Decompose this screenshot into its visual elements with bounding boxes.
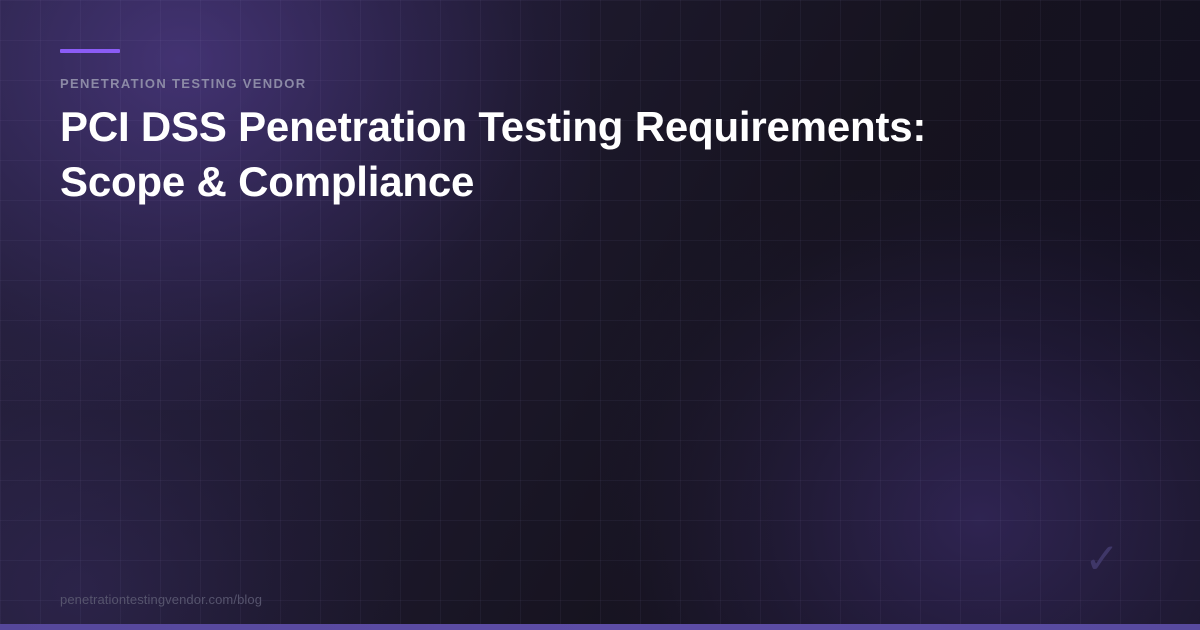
page-title-line-1: PCI DSS Penetration Testing Requirements… bbox=[60, 99, 1070, 154]
footer-url: penetrationtestingvendor.com/blog bbox=[60, 593, 262, 606]
check-icon: ✓ bbox=[1080, 536, 1124, 582]
glow-bottom-left bbox=[0, 300, 400, 630]
og-share-card: PENETRATION TESTING VENDOR PCI DSS Penet… bbox=[0, 0, 1200, 630]
bottom-accent-bar bbox=[0, 624, 1200, 630]
brand-eyebrow: PENETRATION TESTING VENDOR bbox=[60, 77, 306, 90]
grid-pattern-overlay bbox=[0, 0, 1200, 630]
accent-bar bbox=[60, 49, 120, 53]
page-title-line-2: Scope & Compliance bbox=[60, 154, 1070, 209]
page-title: PCI DSS Penetration Testing Requirements… bbox=[60, 99, 1070, 209]
